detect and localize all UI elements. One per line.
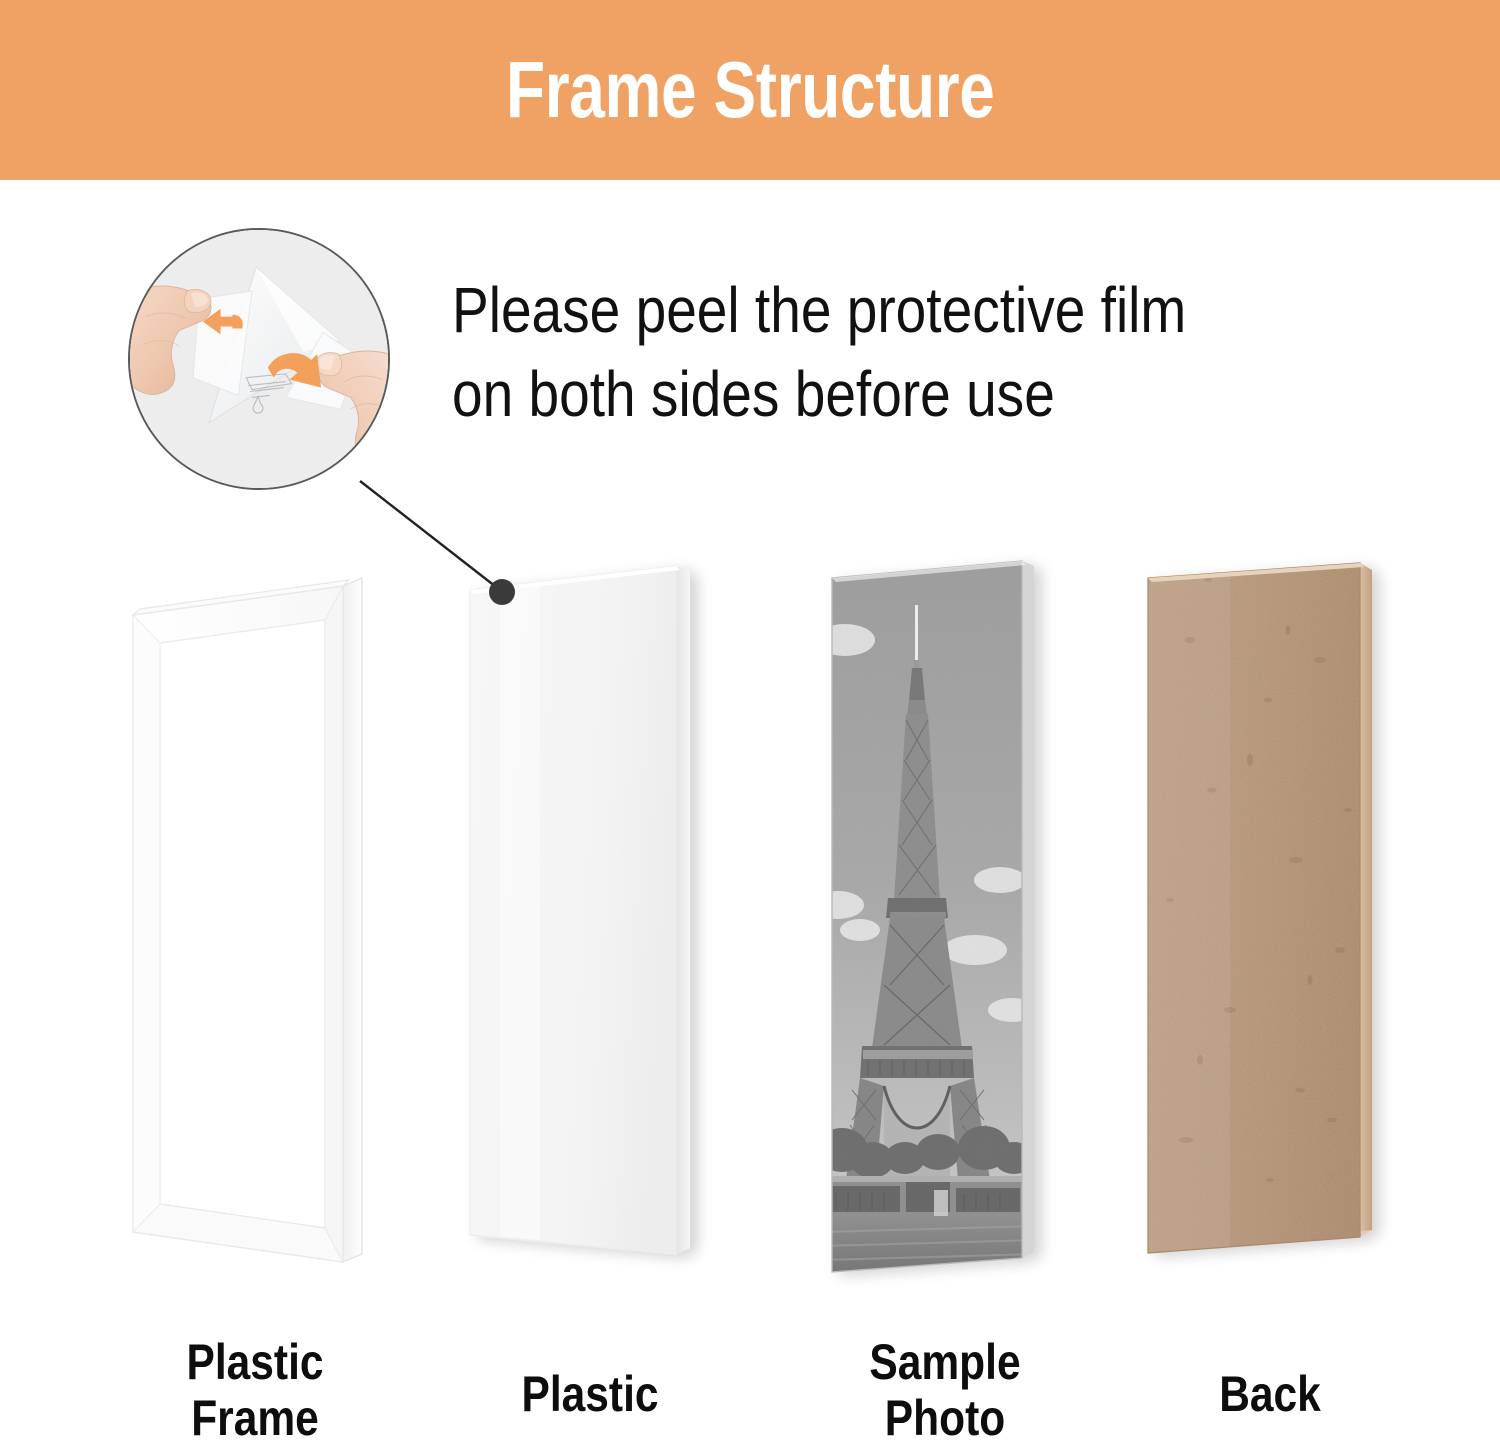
label-sample-photo-line1: Sample (818, 1334, 1073, 1390)
label-plastic-frame-line1: Plastic (119, 1334, 391, 1390)
component-plastic-sheet (470, 566, 690, 1254)
component-back-board (1140, 555, 1380, 1265)
label-back: Back (1151, 1366, 1389, 1422)
components-diagram (0, 0, 1500, 1442)
component-plastic-frame (133, 578, 362, 1262)
label-sample-photo: Sample Photo (818, 1334, 1073, 1446)
label-plastic-frame: Plastic Frame (119, 1334, 391, 1446)
label-sample-photo-line2: Photo (818, 1390, 1073, 1446)
component-sample-photo (812, 555, 1040, 1288)
infographic-canvas: Frame Structure (0, 0, 1500, 1442)
eiffel-tower-photo (812, 555, 1040, 1288)
label-back-line1: Back (1151, 1366, 1389, 1422)
label-plastic-frame-line2: Frame (119, 1390, 391, 1446)
label-plastic-line1: Plastic (463, 1366, 718, 1422)
label-plastic: Plastic (463, 1366, 718, 1422)
